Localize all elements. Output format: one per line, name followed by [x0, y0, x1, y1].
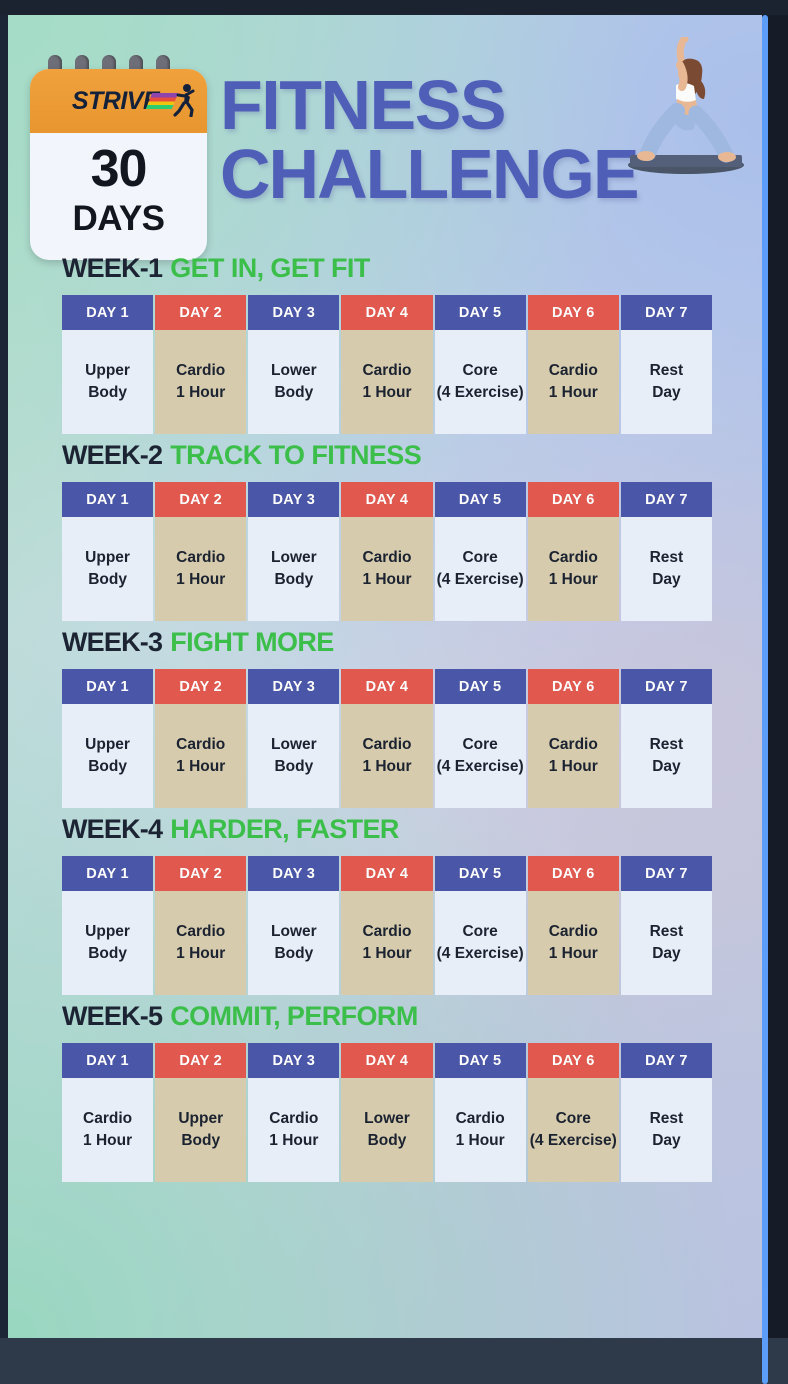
day-header-1: DAY 1: [62, 1043, 153, 1078]
activity-line-2: 1 Hour: [176, 756, 225, 778]
week-block: WEEK-1GET IN, GET FITDAY 1UpperBodyDAY 2…: [62, 255, 762, 434]
activity-line-2: 1 Hour: [269, 1130, 318, 1152]
week-subtitle: TRACK TO FITNESS: [170, 440, 421, 470]
calendar-logo: STRIVE 30 DAYS: [30, 55, 207, 260]
poster-header: STRIVE 30 DAYS: [8, 15, 762, 255]
activity-line-1: Lower: [364, 1108, 410, 1130]
day-header-7: DAY 7: [621, 482, 712, 517]
activity-line-1: Upper: [85, 921, 130, 943]
day-activity-cell: Cardio1 Hour: [528, 330, 619, 434]
vertical-scrollbar[interactable]: [762, 15, 768, 1384]
day-column-2: DAY 2Cardio1 Hour: [155, 482, 246, 621]
day-activity-cell: Cardio1 Hour: [62, 1078, 153, 1182]
activity-line-2: (4 Exercise): [437, 943, 524, 965]
day-header-1: DAY 1: [62, 669, 153, 704]
day-activity-cell: RestDay: [621, 704, 712, 808]
day-column-4: DAY 4Cardio1 Hour: [341, 856, 432, 995]
activity-line-1: Core: [462, 360, 497, 382]
day-activity-cell: LowerBody: [341, 1078, 432, 1182]
day-activity-cell: UpperBody: [62, 891, 153, 995]
day-column-5: DAY 5Cardio1 Hour: [435, 1043, 526, 1182]
day-column-2: DAY 2Cardio1 Hour: [155, 669, 246, 808]
left-chrome-edge: [0, 15, 8, 1338]
day-activity-cell: Cardio1 Hour: [155, 330, 246, 434]
day-column-7: DAY 7RestDay: [621, 856, 712, 995]
day-activity-cell: Core(4 Exercise): [435, 330, 526, 434]
day-header-1: DAY 1: [62, 482, 153, 517]
activity-line-2: 1 Hour: [362, 756, 411, 778]
day-header-7: DAY 7: [621, 856, 712, 891]
day-column-1: DAY 1UpperBody: [62, 482, 153, 621]
activity-line-2: Day: [652, 756, 680, 778]
day-header-3: DAY 3: [248, 669, 339, 704]
day-column-6: DAY 6Core(4 Exercise): [528, 1043, 619, 1182]
day-header-4: DAY 4: [341, 1043, 432, 1078]
activity-line-2: 1 Hour: [549, 569, 598, 591]
day-header-7: DAY 7: [621, 669, 712, 704]
activity-line-1: Lower: [271, 734, 317, 756]
day-column-7: DAY 7RestDay: [621, 295, 712, 434]
activity-line-1: Upper: [85, 360, 130, 382]
activity-line-2: 1 Hour: [176, 382, 225, 404]
day-header-6: DAY 6: [528, 856, 619, 891]
activity-line-1: Lower: [271, 547, 317, 569]
day-activity-cell: LowerBody: [248, 330, 339, 434]
activity-line-1: Cardio: [549, 547, 598, 569]
activity-line-1: Rest: [650, 547, 684, 569]
activity-line-1: Cardio: [362, 734, 411, 756]
day-column-3: DAY 3LowerBody: [248, 482, 339, 621]
day-header-2: DAY 2: [155, 669, 246, 704]
activity-line-2: Body: [88, 569, 127, 591]
activity-line-1: Core: [556, 1108, 591, 1130]
week-label: WEEK-3: [62, 627, 162, 657]
week-label: WEEK-5: [62, 1001, 162, 1031]
activity-line-2: (4 Exercise): [437, 382, 524, 404]
day-column-7: DAY 7RestDay: [621, 482, 712, 621]
activity-line-1: Rest: [650, 921, 684, 943]
right-chrome-edge: [768, 15, 788, 1338]
day-column-6: DAY 6Cardio1 Hour: [528, 669, 619, 808]
week-block: WEEK-3FIGHT MOREDAY 1UpperBodyDAY 2Cardi…: [62, 629, 762, 808]
activity-line-1: Lower: [271, 360, 317, 382]
day-activity-cell: LowerBody: [248, 891, 339, 995]
activity-line-2: 1 Hour: [362, 569, 411, 591]
day-header-3: DAY 3: [248, 295, 339, 330]
day-header-6: DAY 6: [528, 295, 619, 330]
week-schedule-table: DAY 1UpperBodyDAY 2Cardio1 HourDAY 3Lowe…: [62, 669, 712, 808]
day-header-5: DAY 5: [435, 1043, 526, 1078]
day-activity-cell: UpperBody: [155, 1078, 246, 1182]
day-header-5: DAY 5: [435, 295, 526, 330]
activity-line-2: Body: [274, 382, 313, 404]
activity-line-1: Cardio: [269, 1108, 318, 1130]
calendar-day-count: 30: [30, 143, 207, 195]
week-subtitle: GET IN, GET FIT: [170, 253, 370, 283]
activity-line-2: Body: [88, 382, 127, 404]
week-schedule-table: DAY 1UpperBodyDAY 2Cardio1 HourDAY 3Lowe…: [62, 295, 712, 434]
day-column-5: DAY 5Core(4 Exercise): [435, 295, 526, 434]
activity-line-2: 1 Hour: [456, 1130, 505, 1152]
day-activity-cell: Cardio1 Hour: [341, 704, 432, 808]
day-header-1: DAY 1: [62, 295, 153, 330]
calendar-header-band: STRIVE: [30, 69, 207, 133]
day-activity-cell: UpperBody: [62, 704, 153, 808]
day-activity-cell: Cardio1 Hour: [528, 517, 619, 621]
runner-icon: [171, 83, 197, 117]
activity-line-1: Cardio: [176, 734, 225, 756]
day-column-5: DAY 5Core(4 Exercise): [435, 856, 526, 995]
activity-line-2: Day: [652, 569, 680, 591]
activity-line-2: 1 Hour: [83, 1130, 132, 1152]
strive-wordmark: STRIVE: [72, 87, 159, 116]
day-activity-cell: LowerBody: [248, 517, 339, 621]
week-label: WEEK-4: [62, 814, 162, 844]
weeks-container: WEEK-1GET IN, GET FITDAY 1UpperBodyDAY 2…: [8, 255, 762, 1182]
activity-line-1: Cardio: [549, 360, 598, 382]
day-header-4: DAY 4: [341, 856, 432, 891]
day-header-6: DAY 6: [528, 482, 619, 517]
day-activity-cell: UpperBody: [62, 517, 153, 621]
activity-line-2: Body: [274, 756, 313, 778]
activity-line-1: Rest: [650, 734, 684, 756]
activity-line-2: Body: [274, 943, 313, 965]
week-schedule-table: DAY 1UpperBodyDAY 2Cardio1 HourDAY 3Lowe…: [62, 482, 712, 621]
browser-top-bar: [0, 0, 788, 15]
day-activity-cell: Cardio1 Hour: [528, 704, 619, 808]
day-activity-cell: RestDay: [621, 330, 712, 434]
activity-line-2: 1 Hour: [549, 756, 598, 778]
week-block: WEEK-5COMMIT, PERFORMDAY 1Cardio1 HourDA…: [62, 1003, 762, 1182]
activity-line-1: Upper: [178, 1108, 223, 1130]
day-header-7: DAY 7: [621, 1043, 712, 1078]
activity-line-1: Cardio: [176, 921, 225, 943]
week-schedule-table: DAY 1Cardio1 HourDAY 2UpperBodyDAY 3Card…: [62, 1043, 712, 1182]
day-activity-cell: Cardio1 Hour: [341, 330, 432, 434]
day-activity-cell: Cardio1 Hour: [155, 517, 246, 621]
activity-line-1: Cardio: [362, 547, 411, 569]
day-header-4: DAY 4: [341, 482, 432, 517]
day-column-1: DAY 1UpperBody: [62, 295, 153, 434]
day-activity-cell: Cardio1 Hour: [155, 891, 246, 995]
activity-line-1: Lower: [271, 921, 317, 943]
day-column-1: DAY 1Cardio1 Hour: [62, 1043, 153, 1182]
day-header-5: DAY 5: [435, 669, 526, 704]
week-label: WEEK-2: [62, 440, 162, 470]
day-column-4: DAY 4Cardio1 Hour: [341, 482, 432, 621]
day-activity-cell: RestDay: [621, 517, 712, 621]
activity-line-1: Core: [462, 734, 497, 756]
day-column-1: DAY 1UpperBody: [62, 856, 153, 995]
calendar-day-unit: DAYS: [30, 201, 207, 236]
browser-bottom-bar: [0, 1338, 788, 1384]
day-column-2: DAY 2Cardio1 Hour: [155, 856, 246, 995]
activity-line-1: Cardio: [549, 734, 598, 756]
day-header-4: DAY 4: [341, 295, 432, 330]
activity-line-2: Body: [274, 569, 313, 591]
week-heading: WEEK-1GET IN, GET FIT: [62, 255, 762, 282]
day-column-6: DAY 6Cardio1 Hour: [528, 856, 619, 995]
activity-line-1: Upper: [85, 734, 130, 756]
day-column-5: DAY 5Core(4 Exercise): [435, 669, 526, 808]
week-heading: WEEK-4HARDER, FASTER: [62, 816, 762, 843]
day-column-1: DAY 1UpperBody: [62, 669, 153, 808]
day-activity-cell: Cardio1 Hour: [341, 517, 432, 621]
activity-line-1: Cardio: [362, 921, 411, 943]
week-subtitle: FIGHT MORE: [170, 627, 334, 657]
day-header-5: DAY 5: [435, 482, 526, 517]
activity-line-2: (4 Exercise): [437, 569, 524, 591]
day-header-2: DAY 2: [155, 295, 246, 330]
day-header-3: DAY 3: [248, 856, 339, 891]
day-activity-cell: Cardio1 Hour: [248, 1078, 339, 1182]
day-column-6: DAY 6Cardio1 Hour: [528, 482, 619, 621]
activity-line-1: Core: [462, 921, 497, 943]
week-heading: WEEK-5COMMIT, PERFORM: [62, 1003, 762, 1030]
week-schedule-table: DAY 1UpperBodyDAY 2Cardio1 HourDAY 3Lowe…: [62, 856, 712, 995]
day-header-6: DAY 6: [528, 1043, 619, 1078]
activity-line-1: Rest: [650, 360, 684, 382]
day-column-4: DAY 4Cardio1 Hour: [341, 295, 432, 434]
activity-line-2: (4 Exercise): [437, 756, 524, 778]
day-activity-cell: Cardio1 Hour: [528, 891, 619, 995]
day-activity-cell: Cardio1 Hour: [155, 704, 246, 808]
day-column-4: DAY 4LowerBody: [341, 1043, 432, 1182]
activity-line-2: 1 Hour: [176, 943, 225, 965]
activity-line-2: Body: [88, 943, 127, 965]
day-header-2: DAY 2: [155, 482, 246, 517]
activity-line-2: 1 Hour: [362, 943, 411, 965]
activity-line-2: Day: [652, 943, 680, 965]
day-column-3: DAY 3LowerBody: [248, 856, 339, 995]
day-activity-cell: Cardio1 Hour: [341, 891, 432, 995]
day-header-4: DAY 4: [341, 669, 432, 704]
day-header-2: DAY 2: [155, 1043, 246, 1078]
day-column-2: DAY 2UpperBody: [155, 1043, 246, 1182]
week-subtitle: HARDER, FASTER: [170, 814, 399, 844]
week-heading: WEEK-3FIGHT MORE: [62, 629, 762, 656]
week-label: WEEK-1: [62, 253, 162, 283]
activity-line-2: Day: [652, 1130, 680, 1152]
week-block: WEEK-4HARDER, FASTERDAY 1UpperBodyDAY 2C…: [62, 816, 762, 995]
day-activity-cell: Core(4 Exercise): [435, 517, 526, 621]
day-activity-cell: Core(4 Exercise): [435, 891, 526, 995]
calendar-body: STRIVE 30 DAYS: [30, 69, 207, 260]
activity-line-1: Cardio: [176, 360, 225, 382]
activity-line-2: 1 Hour: [549, 943, 598, 965]
activity-line-1: Upper: [85, 547, 130, 569]
day-column-7: DAY 7RestDay: [621, 669, 712, 808]
activity-line-1: Cardio: [176, 547, 225, 569]
activity-line-1: Rest: [650, 1108, 684, 1130]
day-activity-cell: RestDay: [621, 1078, 712, 1182]
day-column-2: DAY 2Cardio1 Hour: [155, 295, 246, 434]
yoga-woman-illustration: [620, 37, 752, 182]
activity-line-1: Cardio: [549, 921, 598, 943]
day-column-5: DAY 5Core(4 Exercise): [435, 482, 526, 621]
fitness-challenge-poster: STRIVE 30 DAYS: [8, 15, 762, 1338]
day-header-2: DAY 2: [155, 856, 246, 891]
day-header-3: DAY 3: [248, 482, 339, 517]
day-column-6: DAY 6Cardio1 Hour: [528, 295, 619, 434]
activity-line-2: Body: [88, 756, 127, 778]
week-heading: WEEK-2TRACK TO FITNESS: [62, 442, 762, 469]
week-subtitle: COMMIT, PERFORM: [170, 1001, 418, 1031]
day-header-1: DAY 1: [62, 856, 153, 891]
activity-line-2: 1 Hour: [362, 382, 411, 404]
activity-line-2: Day: [652, 382, 680, 404]
activity-line-2: (4 Exercise): [530, 1130, 617, 1152]
activity-line-2: 1 Hour: [549, 382, 598, 404]
day-activity-cell: Cardio1 Hour: [435, 1078, 526, 1182]
day-column-3: DAY 3LowerBody: [248, 295, 339, 434]
day-header-3: DAY 3: [248, 1043, 339, 1078]
day-header-6: DAY 6: [528, 669, 619, 704]
day-activity-cell: UpperBody: [62, 330, 153, 434]
day-activity-cell: RestDay: [621, 891, 712, 995]
day-column-3: DAY 3LowerBody: [248, 669, 339, 808]
week-block: WEEK-2TRACK TO FITNESSDAY 1UpperBodyDAY …: [62, 442, 762, 621]
day-column-7: DAY 7RestDay: [621, 1043, 712, 1182]
activity-line-1: Core: [462, 547, 497, 569]
day-column-4: DAY 4Cardio1 Hour: [341, 669, 432, 808]
day-column-3: DAY 3Cardio1 Hour: [248, 1043, 339, 1182]
day-activity-cell: LowerBody: [248, 704, 339, 808]
activity-line-2: Body: [368, 1130, 407, 1152]
day-header-5: DAY 5: [435, 856, 526, 891]
activity-line-2: 1 Hour: [176, 569, 225, 591]
app-window: STRIVE 30 DAYS: [0, 0, 788, 1384]
day-activity-cell: Core(4 Exercise): [435, 704, 526, 808]
activity-line-2: Body: [181, 1130, 220, 1152]
day-header-7: DAY 7: [621, 295, 712, 330]
activity-line-1: Cardio: [83, 1108, 132, 1130]
activity-line-1: Cardio: [456, 1108, 505, 1130]
day-activity-cell: Core(4 Exercise): [528, 1078, 619, 1182]
activity-line-1: Cardio: [362, 360, 411, 382]
